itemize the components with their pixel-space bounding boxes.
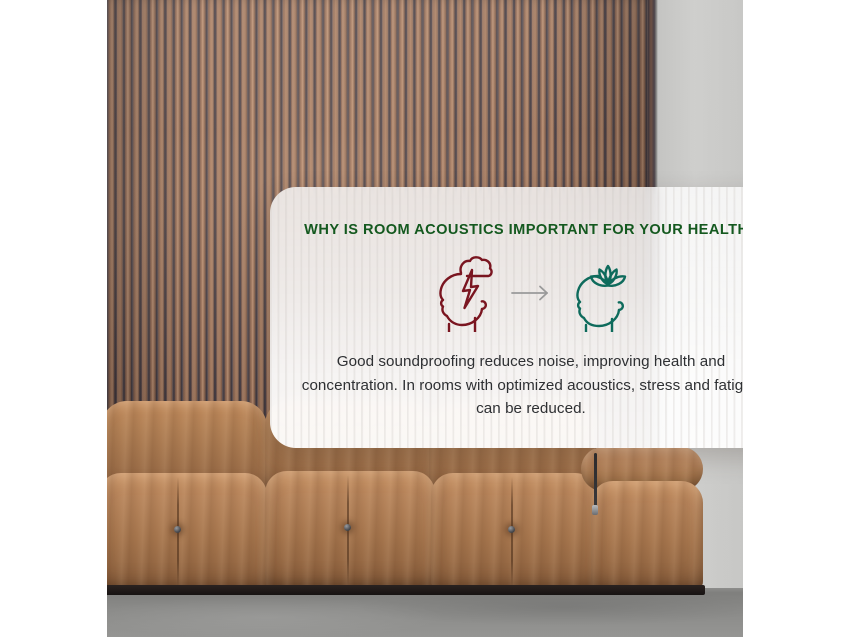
sofa-corner-seat (591, 481, 703, 593)
sofa-base (107, 585, 705, 595)
letterbox-left (0, 0, 107, 637)
leather-folds (107, 473, 267, 593)
card-body-text: Good soundproofing reduces noise, improv… (294, 350, 743, 421)
leather-folds (265, 471, 435, 591)
cushion-seam (511, 477, 513, 589)
cushion-button-tuft (508, 526, 515, 533)
armrest-buckle (592, 505, 598, 515)
sofa-seat-cushion (431, 473, 597, 593)
calm-head-icon (567, 254, 631, 332)
room-photo: WHY IS ROOM ACOUSTICS IMPORTANT FOR YOUR… (107, 0, 743, 637)
arrow-right-icon (509, 284, 553, 302)
armrest-strap (594, 453, 597, 511)
cushion-seam (177, 477, 179, 589)
leather-folds (591, 481, 703, 593)
cushion-button-tuft (174, 526, 181, 533)
cushion-seam (347, 475, 349, 587)
page-title: WHY IS ROOM ACOUSTICS IMPORTANT FOR YOUR… (270, 222, 743, 238)
screenshot-stage: WHY IS ROOM ACOUSTICS IMPORTANT FOR YOUR… (0, 0, 850, 637)
info-card: WHY IS ROOM ACOUSTICS IMPORTANT FOR YOUR… (270, 187, 743, 448)
letterbox-right (743, 0, 850, 637)
leather-folds (431, 473, 597, 593)
stressed-head-icon (431, 254, 495, 332)
cushion-button-tuft (344, 524, 351, 531)
icon-comparison-row (270, 254, 743, 332)
sofa-seat-cushion (107, 473, 267, 593)
sofa-seat-cushion (265, 471, 435, 591)
